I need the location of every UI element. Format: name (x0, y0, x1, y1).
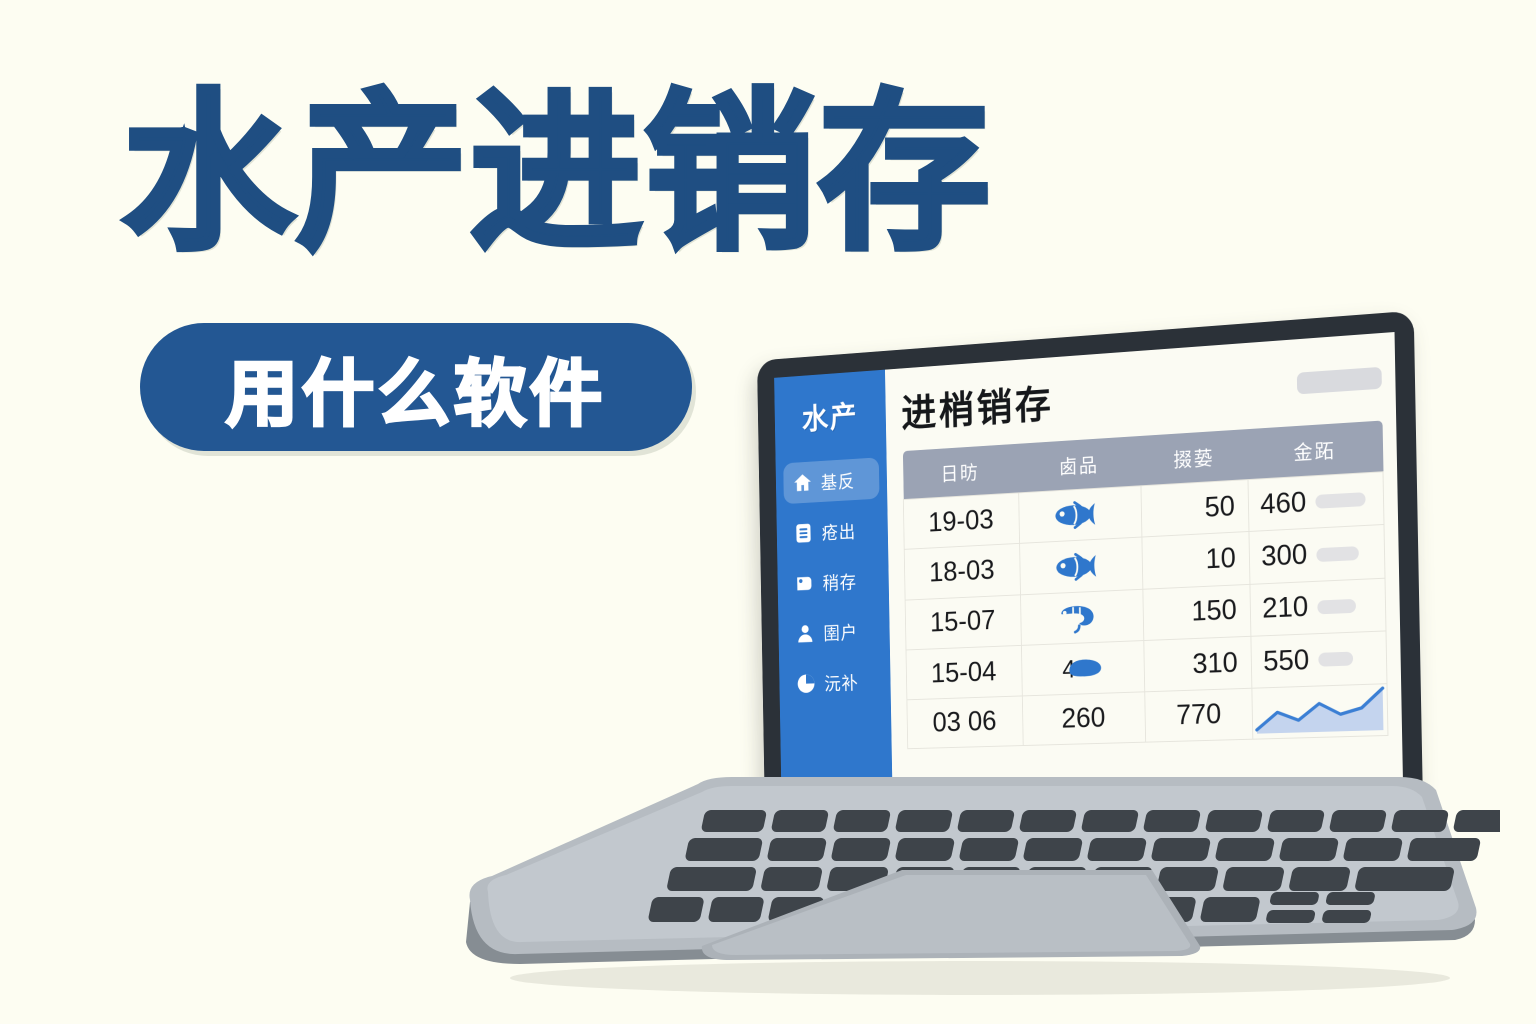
row-placeholder-bar (1318, 599, 1357, 614)
cell-date: 18-03 (904, 544, 1020, 600)
laptop-base-illustration (440, 750, 1500, 1000)
brand-name: 水产 (774, 390, 886, 440)
sparkline-area-chart (1252, 684, 1387, 738)
fish-icon (1055, 549, 1106, 584)
cell-quantity: 770 (1145, 688, 1253, 742)
fish-icon (1054, 497, 1105, 532)
table-body: 19-03 50 460 (903, 472, 1388, 749)
cell-amount: 460 (1248, 472, 1384, 532)
cell-quantity: 310 (1144, 636, 1252, 692)
cell-quantity: 50 (1141, 480, 1249, 538)
inventory-table: 日昉 卥品 掇蒆 金跖 19-03 (902, 421, 1388, 750)
blob-icon (1066, 651, 1103, 685)
cell-item (1018, 486, 1142, 544)
sidebar-item-label: 圉户 (823, 618, 858, 645)
screen-title: 进梢销存 (901, 373, 1054, 438)
sidebar-item-customers[interactable]: 圉户 (786, 609, 882, 654)
row-placeholder-bar (1316, 492, 1366, 509)
cell-amount: 550 (1251, 631, 1387, 688)
wallet-icon (794, 571, 816, 595)
sidebar-item-label: 沅补 (824, 669, 859, 695)
column-header-date[interactable]: 日昉 (902, 444, 1018, 500)
cell-item (1020, 589, 1144, 645)
column-header-amount[interactable]: 金跖 (1247, 421, 1383, 480)
shrimp-icon (1056, 600, 1107, 635)
document-icon (793, 521, 815, 545)
sidebar-item-stock[interactable]: 稍存 (785, 559, 881, 605)
cell-quantity: 150 (1143, 584, 1251, 640)
row-placeholder-bar (1319, 652, 1354, 667)
cell-amount: 210 (1250, 578, 1386, 636)
column-header-quantity[interactable]: 掇蒆 (1140, 429, 1248, 486)
app-main: 进梢销存 日昉 卥品 掇蒆 金跖 19-03 (885, 332, 1403, 797)
page-title: 水产进销存 (122, 88, 992, 260)
home-icon (792, 470, 814, 494)
amount-value: 460 (1260, 486, 1307, 521)
cell-date: 03 06 (907, 696, 1023, 749)
cell-quantity: 10 (1142, 532, 1250, 589)
column-header-item[interactable]: 卥品 (1017, 436, 1141, 493)
cell-amount: 300 (1249, 525, 1385, 584)
cell-item: 4 (1021, 641, 1145, 696)
cell-item (1019, 537, 1143, 594)
amount-value: 210 (1262, 591, 1309, 625)
sidebar-item-home[interactable]: 基反 (783, 457, 879, 504)
cell-sparkline (1252, 684, 1388, 740)
sidebar-item-outbound[interactable]: 疮出 (784, 508, 880, 554)
laptop-base (440, 750, 1500, 1000)
cell-date: 15-07 (905, 595, 1021, 650)
sidebar-item-label: 疮出 (822, 517, 857, 544)
sidebar-item-label: 稍存 (822, 568, 857, 595)
cell-item: 260 (1022, 692, 1146, 746)
amount-value: 300 (1261, 539, 1308, 574)
pie-chart-icon (795, 671, 817, 695)
user-icon (794, 621, 816, 645)
cell-date: 19-03 (903, 493, 1019, 550)
laptop-device: 水产 基反 疮出 稍存 (440, 300, 1500, 1000)
sidebar-item-reports[interactable]: 沅补 (787, 660, 883, 704)
amount-value: 550 (1263, 644, 1310, 678)
sidebar-item-label: 基反 (821, 467, 856, 494)
app-sidebar: 水产 基反 疮出 稍存 (774, 370, 892, 799)
laptop-lid: 水产 基反 疮出 稍存 (757, 311, 1423, 818)
cell-date: 15-04 (906, 645, 1022, 699)
row-placeholder-bar (1317, 546, 1360, 562)
screen-viewport: 水产 基反 疮出 稍存 (774, 332, 1403, 799)
header-placeholder-bar (1297, 367, 1382, 395)
